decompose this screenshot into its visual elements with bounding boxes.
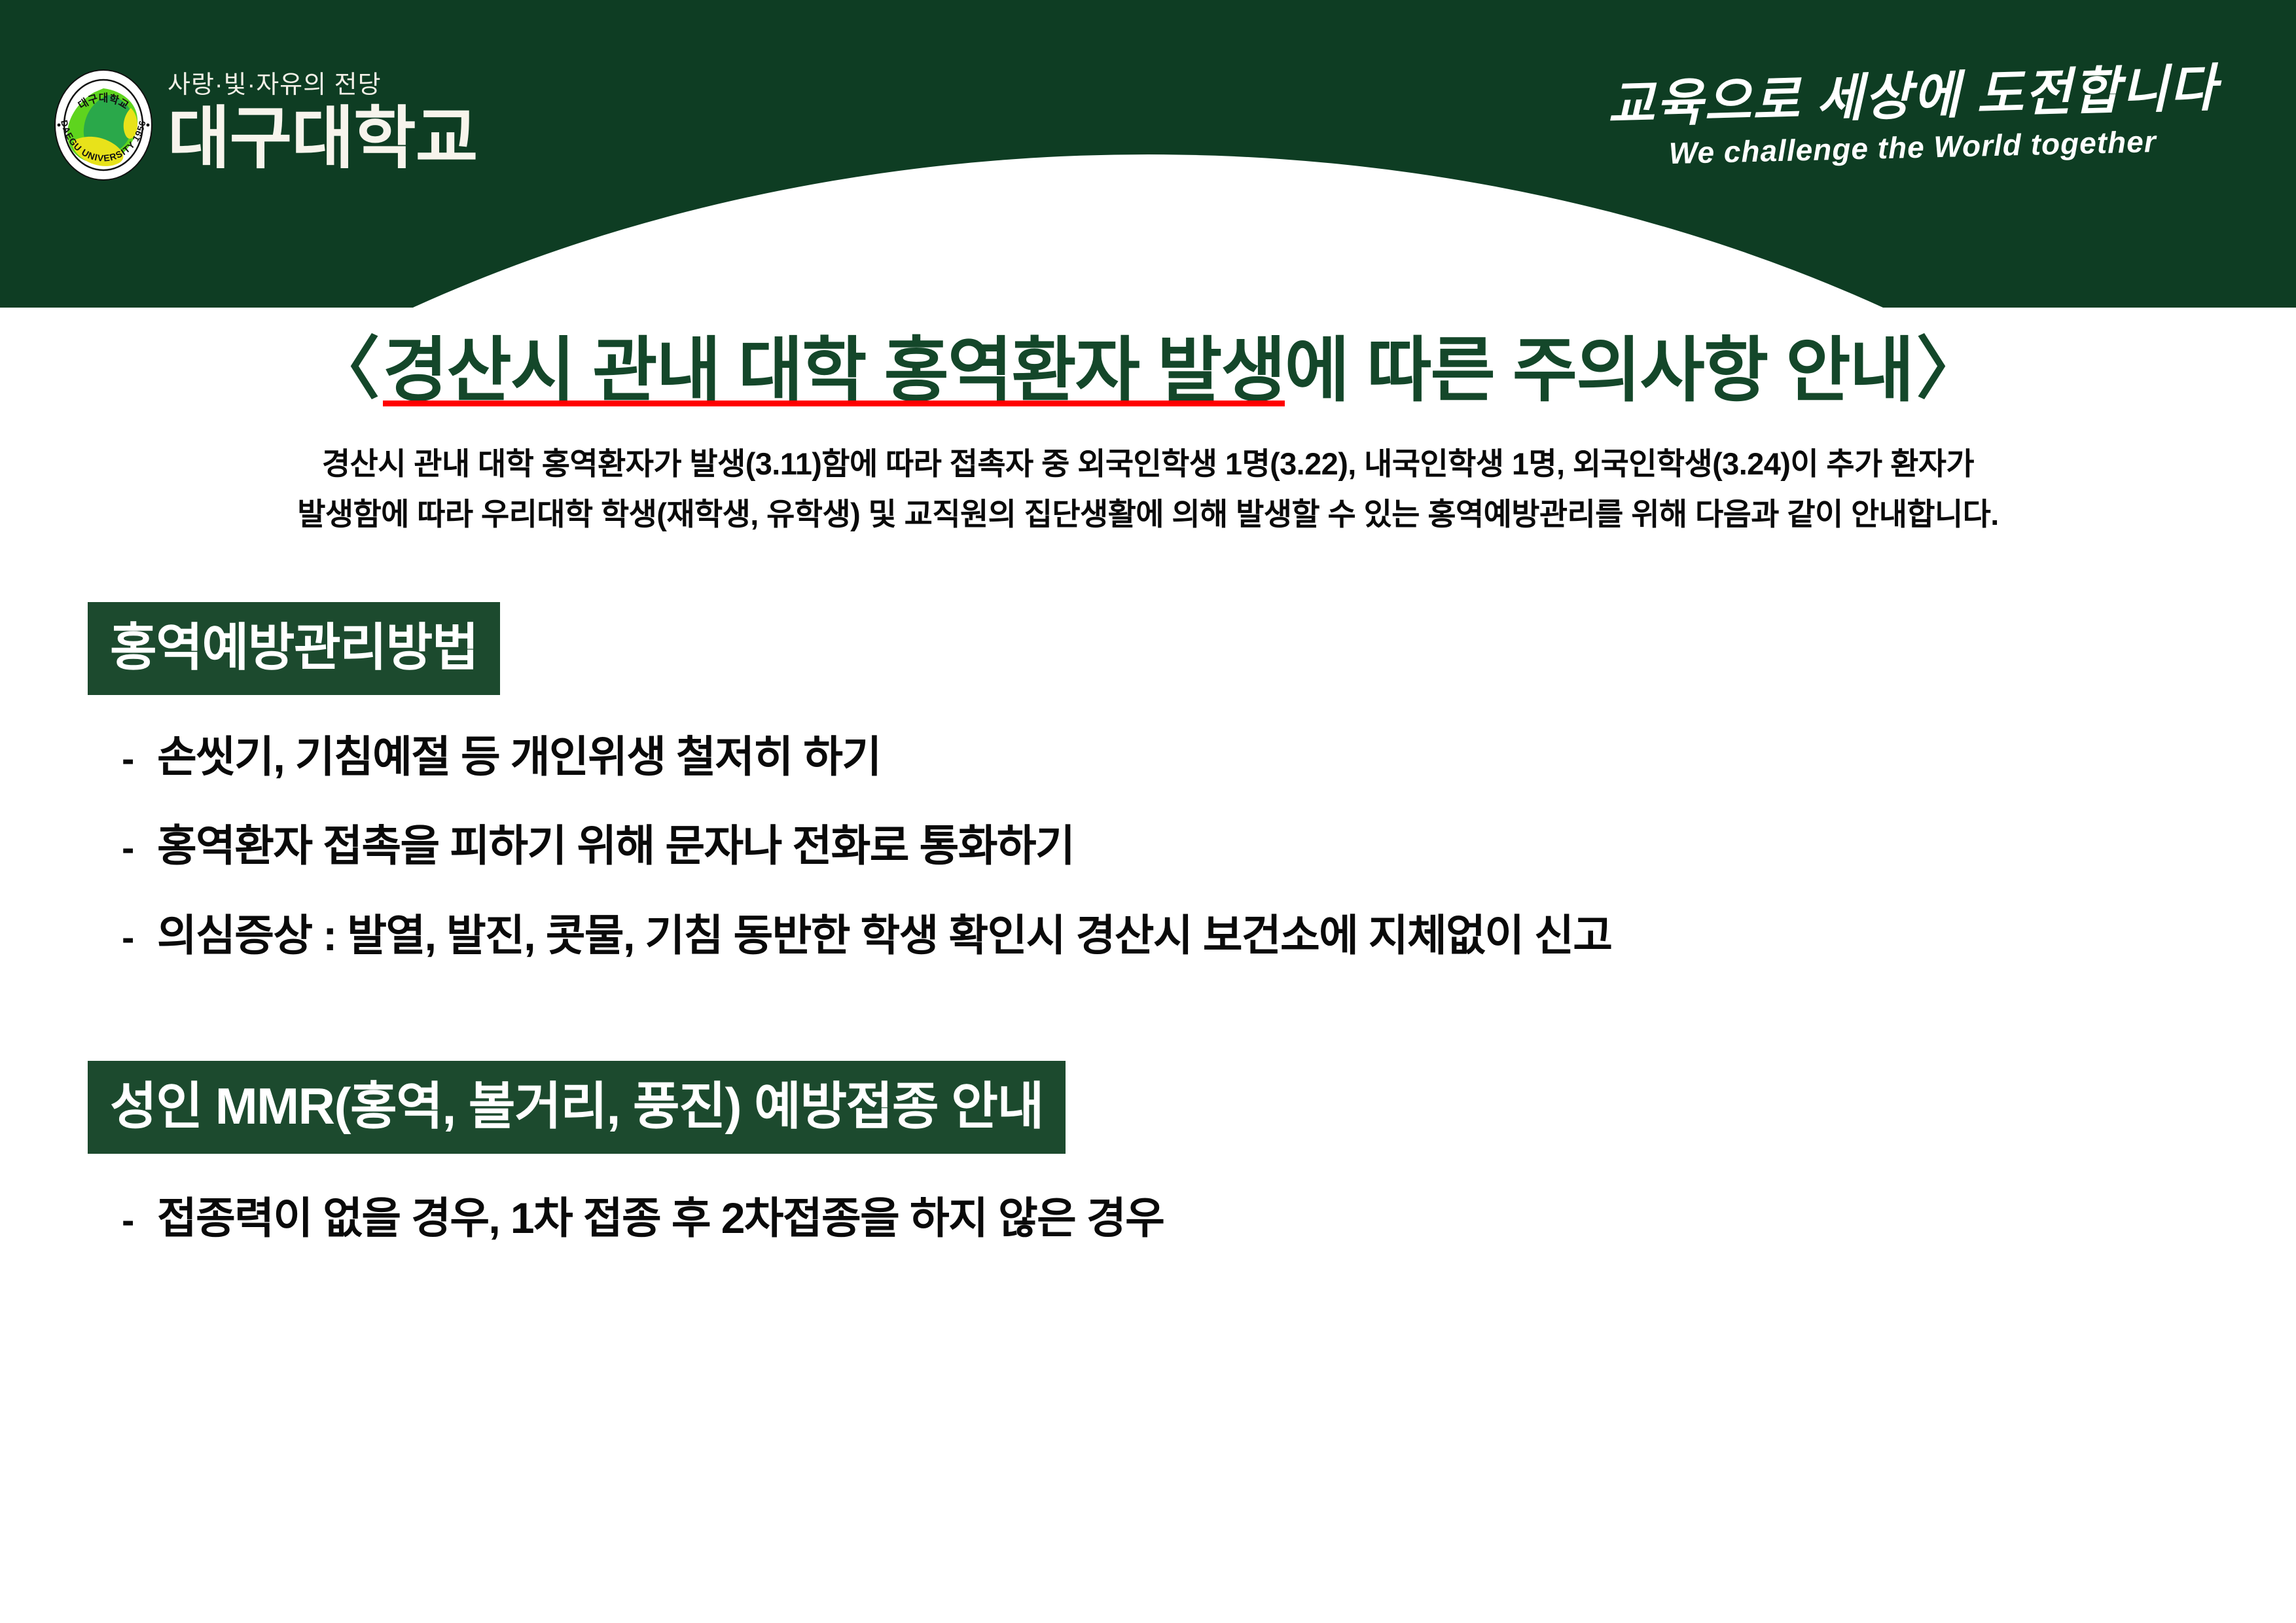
section-heading-prevention: 홍역예방관리방법 bbox=[88, 602, 500, 695]
list-item-label: 손씻기, 기침예절 등 개인위생 철저히 하기 bbox=[157, 730, 880, 783]
list-item-label: 접종력이 없을 경우, 1차 접종 후 2차접종을 하지 않은 경우 bbox=[157, 1192, 1164, 1245]
daegu-university-seal-icon: 대구대학교 DAEGU UNIVERSITY 1956 bbox=[54, 69, 153, 181]
title-bracket-close: 〉 bbox=[1916, 331, 1984, 407]
title-red-underline bbox=[383, 401, 1285, 406]
list-item: - 홍역환자 접촉을 피하기 위해 문자나 전화로 통화하기 bbox=[0, 819, 2296, 872]
logo-tagline: 사랑·빛·자유의 전당 bbox=[168, 73, 477, 98]
intro-paragraph: 경산시 관내 대학 홍역환자가 발생(3.11)함에 따라 접촉자 중 외국인학… bbox=[147, 439, 2149, 539]
bullet-dash-icon: - bbox=[122, 1202, 157, 1240]
intro-line-2: 발생함에 따라 우리대학 학생(재학생, 유학생) 및 교직원의 집단생활에 의… bbox=[147, 490, 2149, 539]
bullet-dash-icon: - bbox=[122, 740, 157, 778]
title-text: 경산시 관내 대학 홍역환자 발생에 따른 주의사항 안내 bbox=[383, 330, 1913, 410]
prevention-bullet-list: - 손씻기, 기침예절 등 개인위생 철저히 하기 - 홍역환자 접촉을 피하기… bbox=[0, 730, 2296, 962]
measles-notice-poster: { "colors": { "brand_green": "#0e3d23", … bbox=[0, 0, 2296, 1623]
page-header: 대구대학교 DAEGU UNIVERSITY 1956 사랑·빛·자유의 전당 … bbox=[0, 0, 2296, 308]
page-title: 〈 경산시 관내 대학 홍역환자 발생에 따른 주의사항 안내 〉 bbox=[0, 313, 2296, 412]
list-item: - 의심증상 : 발열, 발진, 콧물, 기침 동반한 학생 확인시 경산시 보… bbox=[0, 909, 2296, 962]
section-heading-mmr-vaccination: 성인 MMR(홍역, 볼거리, 풍진) 예방접종 안내 bbox=[88, 1061, 1066, 1154]
list-item: - 접종력이 없을 경우, 1차 접종 후 2차접종을 하지 않은 경우 bbox=[0, 1192, 2296, 1245]
poster-body: 〈 경산시 관내 대학 홍역환자 발생에 따른 주의사항 안내 〉 경산시 관내… bbox=[0, 308, 2296, 1245]
intro-line-1: 경산시 관내 대학 홍역환자가 발생(3.11)함에 따라 접촉자 중 외국인학… bbox=[147, 439, 2149, 489]
slogan-english: We challenge the World together bbox=[1607, 125, 2217, 170]
list-item-label: 의심증상 : 발열, 발진, 콧물, 기침 동반한 학생 확인시 경산시 보건소… bbox=[157, 909, 1611, 962]
university-name: 대구대학교 bbox=[168, 104, 477, 173]
mmr-bullet-list: - 접종력이 없을 경우, 1차 접종 후 2차접종을 하지 않은 경우 bbox=[0, 1192, 2296, 1245]
list-item: - 손씻기, 기침예절 등 개인위생 철저히 하기 bbox=[0, 730, 2296, 783]
bullet-dash-icon: - bbox=[122, 829, 157, 867]
list-item-label: 홍역환자 접촉을 피하기 위해 문자나 전화로 통화하기 bbox=[157, 819, 1074, 872]
title-underlined-part: 경산시 관내 대학 홍역환자 발생 bbox=[383, 330, 1285, 410]
bullet-dash-icon: - bbox=[122, 919, 157, 957]
slogan-korean: 교육으로 세상에 도전합니다 bbox=[1607, 62, 2218, 130]
title-bracket-open: 〈 bbox=[312, 331, 380, 407]
university-slogan: 교육으로 세상에 도전합니다 We challenge the World to… bbox=[1607, 71, 2217, 162]
title-rest-part: 에 따른 주의사항 안내 bbox=[1285, 330, 1913, 410]
university-logo-lockup: 대구대학교 DAEGU UNIVERSITY 1956 사랑·빛·자유의 전당 … bbox=[54, 69, 477, 181]
